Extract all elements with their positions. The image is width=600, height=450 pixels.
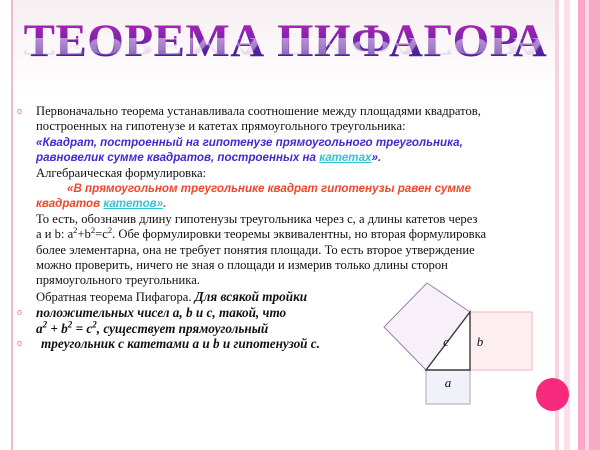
formula-part: =c: [95, 227, 108, 241]
right-stripe-4: [570, 0, 578, 450]
right-stripe-5: [578, 0, 585, 450]
link-katetov[interactable]: катетов»: [103, 197, 163, 210]
formula-part: a: [36, 321, 43, 336]
slide-canvas: ТЕОРЕМА ПИФАГОРА ТЕОРЕМА ПИФАГОРА o Перв…: [0, 0, 600, 450]
right-stripe-7: [589, 0, 600, 450]
text-line: Алгебраическая формулировка:: [36, 166, 553, 181]
formula-part: а и b: a: [36, 227, 73, 241]
leg-b-label: b: [477, 334, 484, 349]
pythagoras-diagram: a b c: [370, 270, 545, 405]
formula-part: = c: [72, 321, 92, 336]
formula-tail: . Обе формулировки теоремы эквивалентны,…: [112, 227, 486, 241]
slide-title-block: ТЕОРЕМА ПИФАГОРА ТЕОРЕМА ПИФАГОРА: [13, 16, 558, 96]
bullet-marker-1: o: [15, 104, 24, 119]
red-quote-tail: .: [163, 197, 166, 210]
blue-quote-text: равновелик сумме квадратов, построенных …: [36, 151, 319, 164]
blue-quote-line-1: «Квадрат, построенный на гипотенузе прям…: [36, 135, 553, 150]
red-quote-line-1: «В прямоугольном треугольнике квадрат ги…: [36, 181, 553, 196]
page-title-reflection: ТЕОРЕМА ПИФАГОРА: [13, 33, 558, 61]
link-katetah[interactable]: катетах: [319, 151, 371, 164]
formula-part: + b: [47, 321, 68, 336]
formula-tail: , существует прямоугольный: [97, 321, 268, 336]
bullet-marker-3: o: [15, 336, 24, 351]
text-line: Первоначально теорема устанавливала соот…: [36, 104, 553, 119]
formula-line-1: а и b: a2+b2=c2. Обе формулировки теорем…: [36, 227, 553, 242]
converse-emphasis: Для всякой тройки: [195, 289, 307, 304]
text-line: построенных на гипотенузе и катетах прям…: [36, 119, 553, 134]
text-line: То есть, обозначив длину гипотенузы треу…: [36, 212, 553, 227]
converse-lead: Обратная теорема Пифагора.: [36, 290, 195, 304]
leg-a-label: a: [445, 375, 452, 390]
red-quote-text: квадратов: [36, 197, 103, 210]
square-on-hypotenuse-c: [384, 283, 470, 370]
bullet-marker-2: o: [15, 305, 24, 320]
formula-part: +b: [77, 227, 90, 241]
blue-quote-tail: ».: [372, 151, 382, 164]
text-line: более элементарна, она не требует поняти…: [36, 243, 553, 258]
left-border-rail: [0, 0, 13, 450]
blue-quote-line-2: равновелик сумме квадратов, построенных …: [36, 150, 553, 165]
pink-circle-decoration: [536, 378, 569, 411]
red-quote-line-2: квадратов катетов».: [36, 196, 553, 211]
hypotenuse-c-label: c: [443, 334, 449, 349]
pythagoras-svg: a b c: [370, 270, 545, 405]
